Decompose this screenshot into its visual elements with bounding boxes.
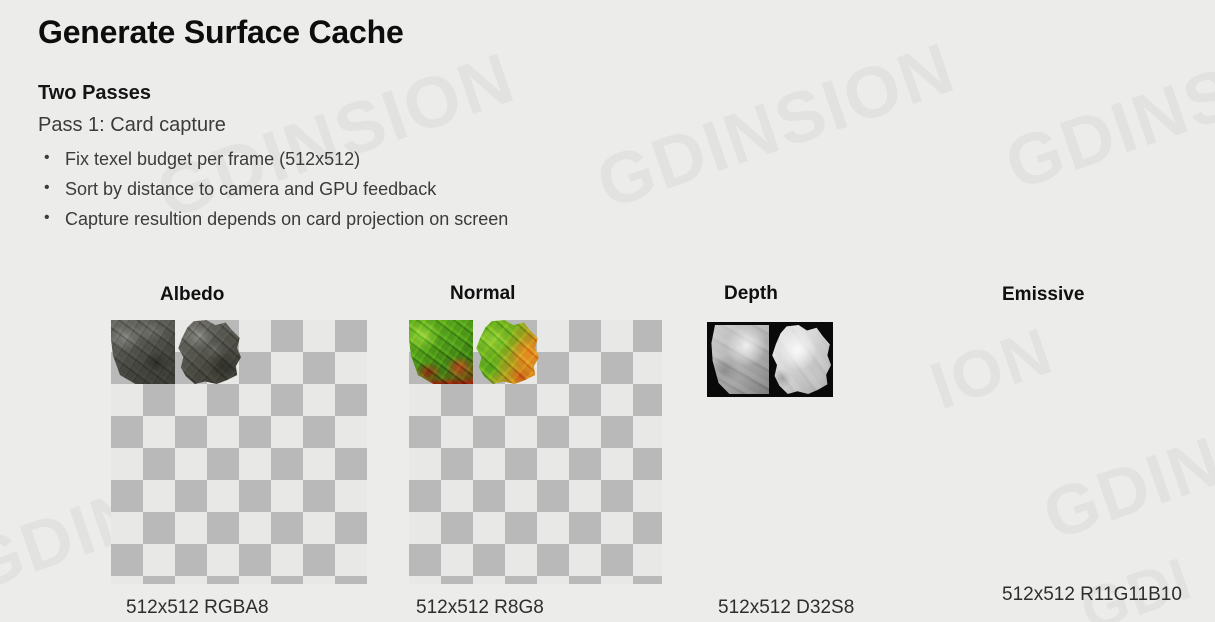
albedo-checkerboard-panel bbox=[111, 320, 367, 584]
depth-panel bbox=[707, 322, 833, 397]
normal-sprite-base-band bbox=[409, 378, 473, 384]
bullet-list: Fix texel budget per frame (512x512) Sor… bbox=[38, 144, 508, 234]
albedo-card-sprite-left bbox=[111, 320, 175, 384]
column-format-depth: 512x512 D32S8 bbox=[718, 597, 854, 619]
watermark-text: ION bbox=[921, 312, 1062, 424]
column-format-normal: 512x512 R8G8 bbox=[416, 597, 544, 619]
depth-card-sprite-right bbox=[771, 325, 831, 394]
normal-card-sprite-left bbox=[409, 320, 473, 384]
watermark-text: GDI bbox=[1072, 544, 1201, 622]
column-format-albedo: 512x512 RGBA8 bbox=[126, 597, 269, 619]
pass-label: Pass 1: Card capture bbox=[38, 114, 226, 137]
depth-card-sprite-left bbox=[709, 325, 769, 394]
slide-title: Generate Surface Cache bbox=[38, 14, 404, 51]
column-title-albedo: Albedo bbox=[160, 284, 224, 306]
normal-checkerboard-panel bbox=[409, 320, 662, 584]
slide-subheading: Two Passes bbox=[38, 82, 151, 105]
watermark-text: GDINS bbox=[1033, 404, 1215, 555]
normal-card-sprite-right bbox=[475, 320, 539, 384]
list-item: Capture resultion depends on card projec… bbox=[38, 204, 508, 234]
albedo-card-sprite-right bbox=[177, 320, 241, 384]
column-format-emissive: 512x512 R11G11B10 bbox=[1002, 584, 1182, 606]
column-title-normal: Normal bbox=[450, 283, 515, 305]
list-item: Fix texel budget per frame (512x512) bbox=[38, 144, 508, 174]
watermark-text: GDINSIO bbox=[995, 25, 1215, 206]
watermark-text: GDINSION bbox=[587, 27, 965, 226]
list-item: Sort by distance to camera and GPU feedb… bbox=[38, 174, 508, 204]
slide-canvas: GDINSION GDINSION GDINSIO GDINSION GDINS… bbox=[0, 0, 1215, 622]
column-title-emissive: Emissive bbox=[1002, 284, 1084, 306]
column-title-depth: Depth bbox=[724, 283, 778, 305]
